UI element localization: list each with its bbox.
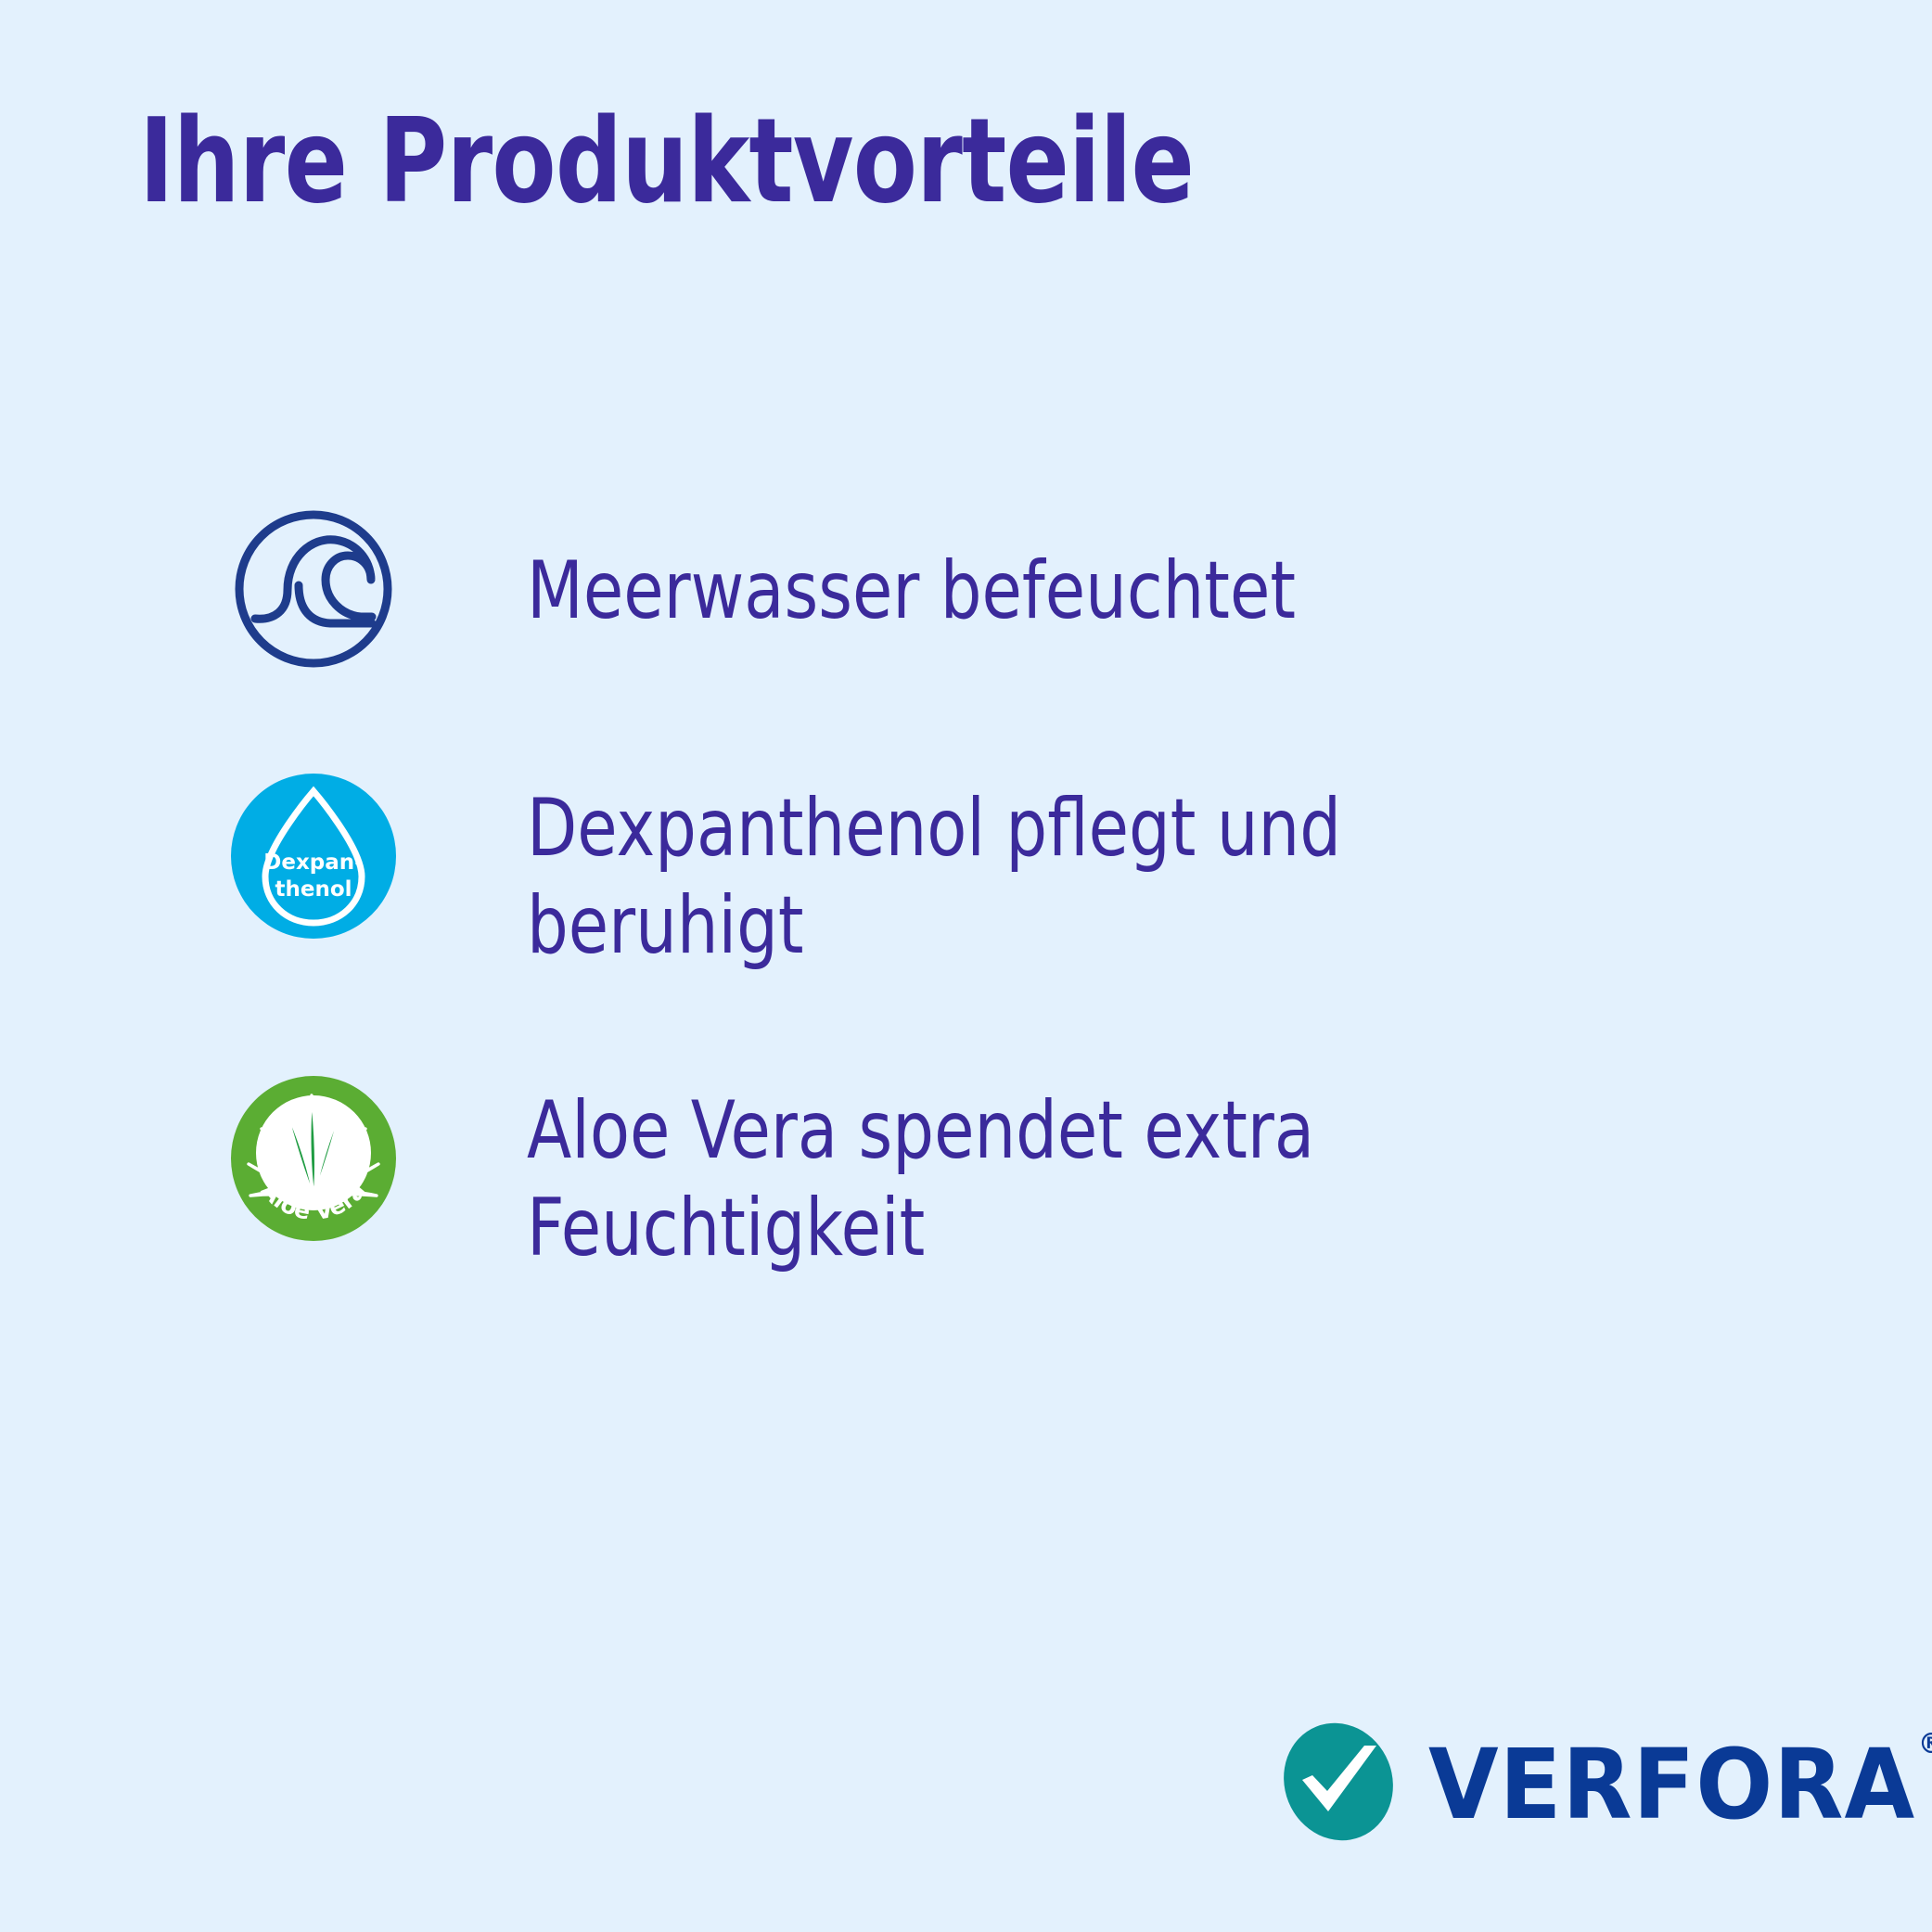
benefit-text: Dexpanthenol pflegt und beruhigt (527, 773, 1501, 975)
check-ellipse-icon (1269, 1721, 1408, 1848)
logo-wordmark: VERFORA® (1428, 1736, 1915, 1833)
sea-wave-icon (230, 505, 397, 672)
registered-mark: ® (1918, 1731, 1932, 1759)
verfora-logo: VERFORA® (1269, 1721, 1932, 1848)
benefits-list: Meerwasser befeuchtet Dexpan- thenol Dex… (230, 505, 1714, 1377)
logo-name: VERFORA (1428, 1728, 1915, 1841)
page-title: Ihre Produktvorteile (139, 100, 1194, 223)
product-benefits-panel: Ihre Produktvorteile Meerwasser befeucht… (0, 0, 1932, 1932)
dexpanthenol-label-line2: thenol (275, 877, 352, 902)
dexpanthenol-droplet-icon: Dexpan- thenol (230, 773, 397, 940)
dexpanthenol-label-line1: Dexpan- (263, 851, 363, 875)
benefit-text: Aloe Vera spendet extra Feuchtigkeit (527, 1075, 1501, 1277)
benefit-text: Meerwasser befeuchtet (527, 505, 1501, 640)
aloe-vera-plant-icon: Aloe Vera (230, 1075, 397, 1242)
benefit-item-dexpanthenol: Dexpan- thenol Dexpanthenol pflegt und b… (230, 773, 1714, 975)
benefit-item-aloe-vera: Aloe Vera Aloe Vera spendet extra Feucht… (230, 1075, 1714, 1277)
benefit-item-meerwasser: Meerwasser befeuchtet (230, 505, 1714, 672)
